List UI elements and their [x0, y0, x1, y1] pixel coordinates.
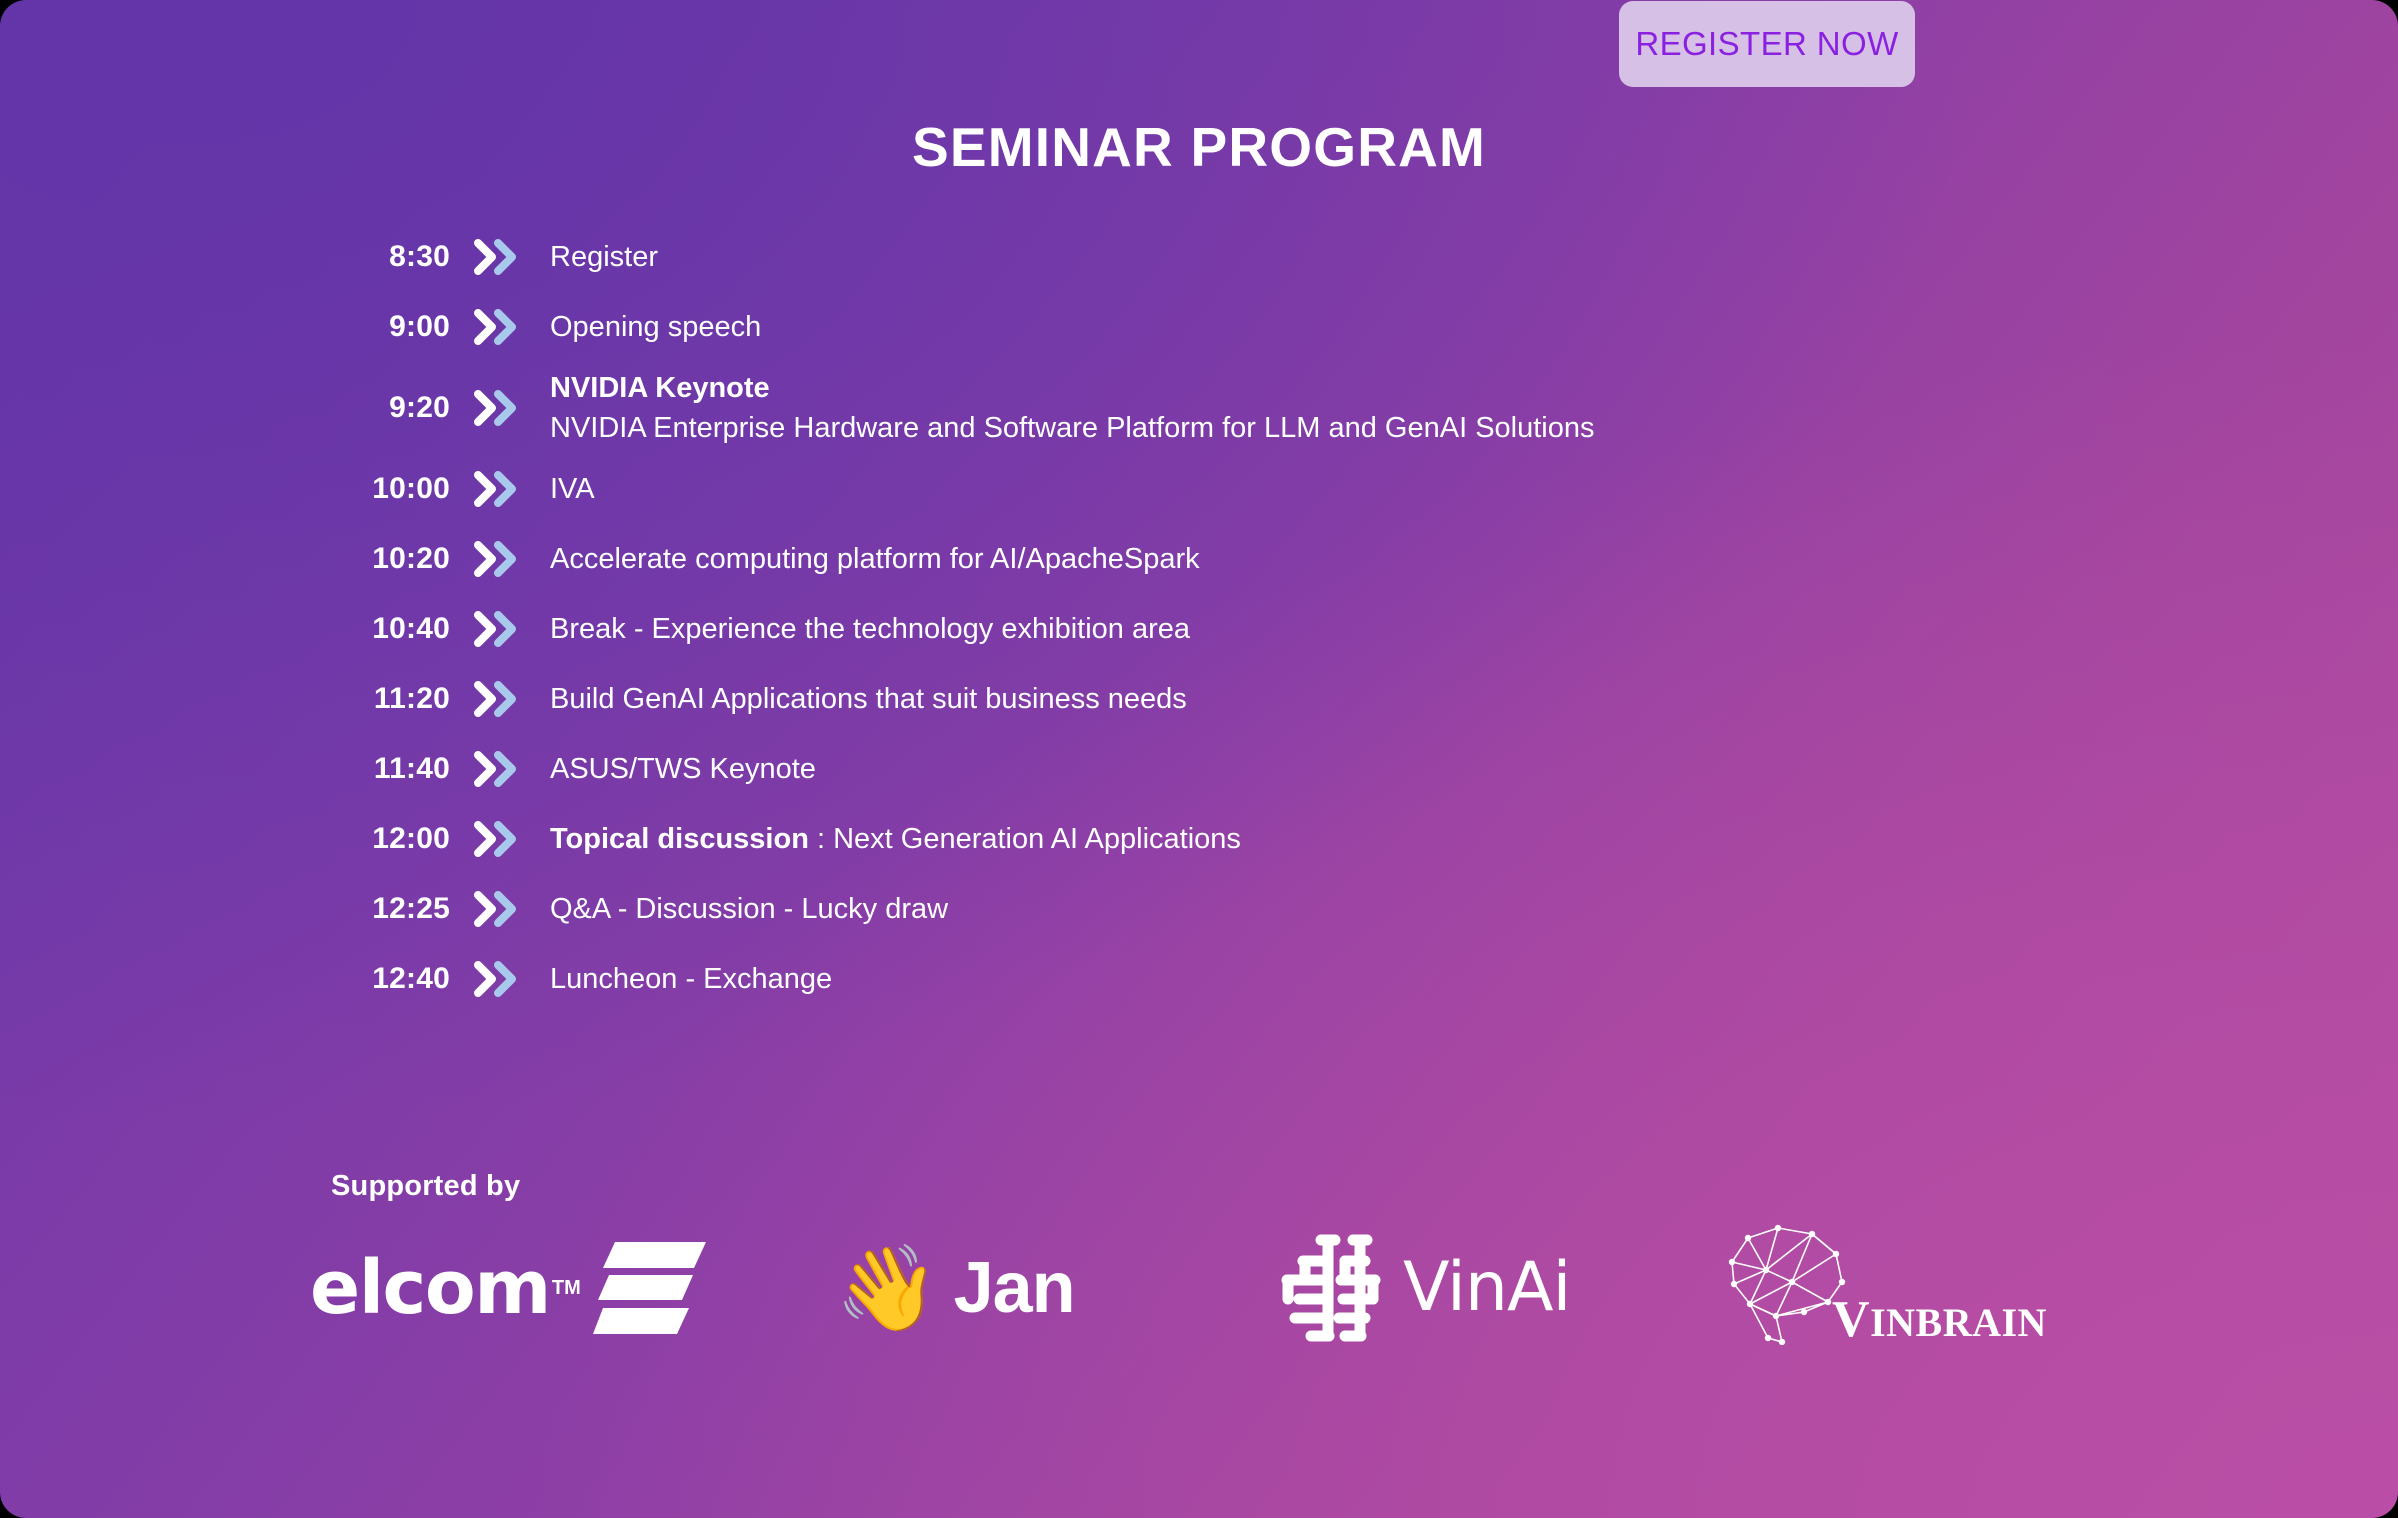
schedule-entry: Accelerate computing platform for AI/Apa…	[532, 539, 2032, 579]
double-chevron-right-icon	[474, 239, 518, 275]
elcom-wordmark: elcom	[310, 1251, 550, 1325]
schedule-entry-title: Break - Experience the technology exhibi…	[550, 613, 1190, 645]
sponsor-logo-vinai[interactable]: VinAi	[1265, 1218, 1570, 1358]
schedule-time: 9:00	[332, 310, 450, 344]
double-chevron-right-icon	[474, 681, 518, 717]
schedule-time: 10:00	[332, 472, 450, 506]
schedule-time: 12:00	[332, 822, 450, 856]
schedule-entry: Q&A - Discussion - Lucky draw	[532, 889, 2032, 929]
schedule-entry: Opening speech	[532, 307, 2032, 347]
schedule-chevron	[450, 239, 532, 275]
schedule-chevron	[450, 309, 532, 345]
jan-wordmark: Jan	[954, 1252, 1075, 1324]
double-chevron-right-icon	[474, 309, 518, 345]
schedule-entry-title: Q&A - Discussion - Lucky draw	[550, 893, 948, 925]
schedule-chevron	[450, 471, 532, 507]
double-chevron-right-icon	[474, 891, 518, 927]
schedule-entry: IVA	[532, 469, 2032, 509]
schedule-chevron	[450, 961, 532, 997]
schedule-time: 10:40	[332, 612, 450, 646]
page-title: SEMINAR PROGRAM	[0, 115, 2398, 179]
vinai-circuit-icon	[1265, 1228, 1389, 1348]
schedule-time: 12:25	[332, 892, 450, 926]
schedule-chevron	[450, 891, 532, 927]
schedule-time: 11:20	[332, 682, 450, 716]
double-chevron-right-icon	[474, 471, 518, 507]
schedule-entry-title: NVIDIA Keynote	[550, 368, 2032, 408]
schedule-row: 11:40ASUS/TWS Keynote	[332, 734, 2032, 804]
schedule-entry-subtitle: NVIDIA Enterprise Hardware and Software …	[550, 412, 1595, 444]
schedule-entry-title: Opening speech	[550, 311, 761, 343]
double-chevron-right-icon	[474, 821, 518, 857]
schedule-row: 12:25Q&A - Discussion - Lucky draw	[332, 874, 2032, 944]
sponsor-logo-elcom[interactable]: elcom TM	[310, 1218, 708, 1358]
seminar-program-slide: REGISTER NOW SEMINAR PROGRAM 8:30Registe…	[0, 0, 2398, 1518]
double-chevron-right-icon	[474, 751, 518, 787]
schedule-entry: Break - Experience the technology exhibi…	[532, 609, 2032, 649]
vinai-wordmark: VinAi	[1403, 1254, 1570, 1322]
schedule-chevron	[450, 541, 532, 577]
schedule-time: 11:40	[332, 752, 450, 786]
schedule-row: 10:00IVA	[332, 454, 2032, 524]
schedule-chevron	[450, 611, 532, 647]
schedule-chevron	[450, 390, 532, 426]
schedule-entry: ASUS/TWS Keynote	[532, 749, 2032, 789]
schedule-entry-title-rest: : Next Generation AI Applications	[809, 823, 1241, 855]
schedule-entry: Luncheon - Exchange	[532, 959, 2032, 999]
schedule-row: 10:20Accelerate computing platform for A…	[332, 524, 2032, 594]
sponsor-logo-vinbrain[interactable]: VINBRAIN	[1720, 1218, 2060, 1358]
schedule-row: 12:40Luncheon - Exchange	[332, 944, 2032, 1014]
double-chevron-right-icon	[474, 611, 518, 647]
schedule-entry: Register	[532, 237, 2032, 277]
schedule-entry: Build GenAI Applications that suit busin…	[532, 679, 2032, 719]
schedule-row: 9:00Opening speech	[332, 292, 2032, 362]
schedule-entry-title: Register	[550, 241, 658, 273]
schedule-time: 12:40	[332, 962, 450, 996]
sponsor-logo-row: elcom TM 👋 Jan	[300, 1218, 2130, 1358]
schedule-row: 11:20Build GenAI Applications that suit …	[332, 664, 2032, 734]
schedule-row: 8:30Register	[332, 222, 2032, 292]
double-chevron-right-icon	[474, 390, 518, 426]
schedule-time: 10:20	[332, 542, 450, 576]
vinbrain-wordmark: VINBRAIN	[1832, 1294, 2047, 1346]
schedule-entry-title: Topical discussion	[550, 823, 809, 855]
waving-hand-icon: 👋	[835, 1246, 940, 1330]
schedule-entry-title: Luncheon - Exchange	[550, 963, 832, 995]
schedule-entry-title: ASUS/TWS Keynote	[550, 753, 816, 785]
seminar-schedule-list: 8:30Register9:00Opening speech9:20NVIDIA…	[332, 222, 2032, 1014]
schedule-entry: NVIDIA KeynoteNVIDIA Enterprise Hardware…	[532, 368, 2032, 448]
double-chevron-right-icon	[474, 961, 518, 997]
schedule-entry-title: Accelerate computing platform for AI/Apa…	[550, 543, 1200, 575]
schedule-time: 8:30	[332, 240, 450, 274]
supported-by-label: Supported by	[331, 1170, 520, 1203]
schedule-entry-title: IVA	[550, 473, 595, 505]
schedule-chevron	[450, 681, 532, 717]
schedule-row: 12:00Topical discussion : Next Generatio…	[332, 804, 2032, 874]
schedule-chevron	[450, 821, 532, 857]
schedule-row: 10:40Break - Experience the technology e…	[332, 594, 2032, 664]
trademark-icon: TM	[552, 1277, 581, 1300]
schedule-chevron	[450, 751, 532, 787]
elcom-e-mark-icon	[593, 1240, 708, 1336]
register-now-button[interactable]: REGISTER NOW	[1619, 1, 1915, 87]
schedule-entry-title: Build GenAI Applications that suit busin…	[550, 683, 1187, 715]
double-chevron-right-icon	[474, 541, 518, 577]
schedule-row: 9:20NVIDIA KeynoteNVIDIA Enterprise Hard…	[332, 362, 2032, 454]
schedule-time: 9:20	[332, 391, 450, 425]
schedule-entry: Topical discussion : Next Generation AI …	[532, 819, 2032, 859]
sponsor-logo-jan[interactable]: 👋 Jan	[835, 1218, 1075, 1358]
